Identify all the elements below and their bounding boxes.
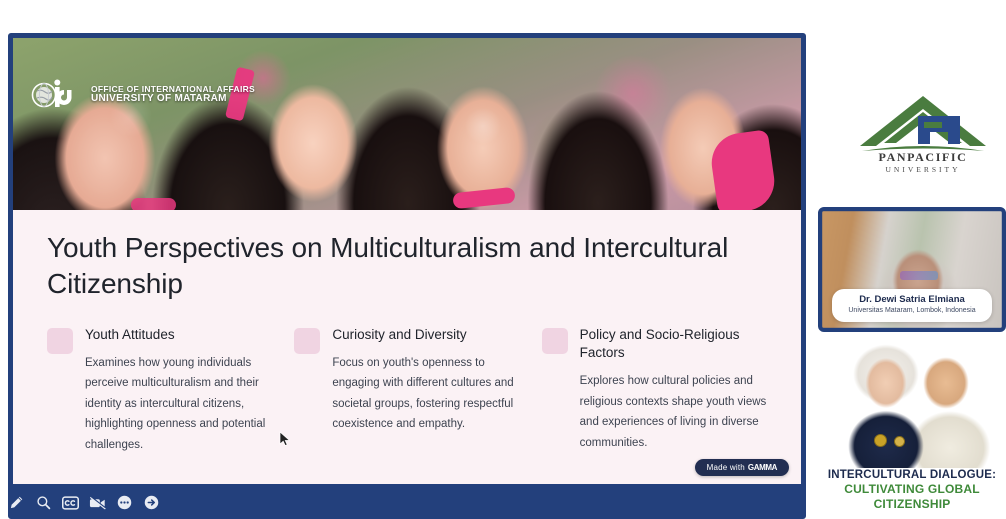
card-swatch-icon xyxy=(294,328,320,354)
camera-off-icon[interactable] xyxy=(89,494,106,511)
card-title: Youth Attitudes xyxy=(85,326,272,344)
card-body: Youth Attitudes Examines how young indiv… xyxy=(85,326,272,456)
oia-logo-line2: UNIVERSITY OF MATARAM xyxy=(91,94,255,105)
meeting-toolbar[interactable] xyxy=(8,494,160,511)
magnifier-icon[interactable] xyxy=(35,494,52,511)
slide-card: Policy and Socio-Religious Factors Explo… xyxy=(542,326,767,456)
panpacific-mark-icon xyxy=(852,92,994,154)
closed-caption-icon[interactable] xyxy=(62,494,79,511)
promo-title-line2: CULTIVATING GLOBAL CITIZENSHIP xyxy=(818,482,1006,511)
promo-title: INTERCULTURAL DIALOGUE: CULTIVATING GLOB… xyxy=(818,468,1006,511)
panpacific-name: PANPACIFIC xyxy=(852,150,994,165)
presentation-slide-frame[interactable]: OFFICE OF INTERNATIONAL AFFAIRS UNIVERSI… xyxy=(8,33,806,519)
card-swatch-icon xyxy=(542,328,568,354)
oia-logo: OFFICE OF INTERNATIONAL AFFAIRS UNIVERSI… xyxy=(31,76,255,114)
card-body: Curiosity and Diversity Focus on youth's… xyxy=(332,326,519,456)
pen-icon[interactable] xyxy=(8,494,25,511)
card-text: Examines how young individuals perceive … xyxy=(85,353,272,455)
arrow-right-circle-icon[interactable] xyxy=(143,494,160,511)
slide-card: Curiosity and Diversity Focus on youth's… xyxy=(294,326,519,456)
screen: OFFICE OF INTERNATIONAL AFFAIRS UNIVERSI… xyxy=(0,0,1006,519)
speaker-affiliation: Universitas Mataram, Lombok, Indonesia xyxy=(838,307,986,316)
globe-icon xyxy=(31,76,85,114)
eyeglasses-icon xyxy=(900,271,938,280)
uniform-badge-icon xyxy=(874,434,887,447)
slide-card: Youth Attitudes Examines how young indiv… xyxy=(47,326,272,456)
event-promo-panel: INTERCULTURAL DIALOGUE: CULTIVATING GLOB… xyxy=(818,338,1006,519)
panpacific-subtitle: UNIVERSITY xyxy=(852,165,994,174)
promo-speakers-photo xyxy=(818,338,1006,468)
card-body: Policy and Socio-Religious Factors Explo… xyxy=(580,326,767,456)
slide-title: Youth Perspectives on Multiculturalism a… xyxy=(47,230,747,302)
hero-photo-highlights xyxy=(13,38,801,210)
slide-hero-image: OFFICE OF INTERNATIONAL AFFAIRS UNIVERSI… xyxy=(13,38,801,210)
pink-accent-4 xyxy=(131,198,176,210)
speaker-video-tile[interactable]: Dr. Dewi Satria Elmiana Universitas Mata… xyxy=(818,207,1006,332)
gamma-brand: GAMMA xyxy=(748,463,777,472)
card-swatch-icon xyxy=(47,328,73,354)
made-with-gamma-badge[interactable]: Made with GAMMA xyxy=(695,459,789,476)
oia-logo-text: OFFICE OF INTERNATIONAL AFFAIRS UNIVERSI… xyxy=(91,85,255,105)
made-with-prefix: Made with xyxy=(707,463,745,472)
card-text: Focus on youth's openness to engaging wi… xyxy=(332,353,519,435)
slide-body: Youth Perspectives on Multiculturalism a… xyxy=(13,210,801,484)
panpacific-university-logo: PANPACIFIC UNIVERSITY xyxy=(852,92,994,187)
uniform-badge-icon-2 xyxy=(894,436,905,447)
speaker-name-card: Dr. Dewi Satria Elmiana Universitas Mata… xyxy=(832,289,992,322)
card-title: Policy and Socio-Religious Factors xyxy=(580,326,767,362)
slide-cards: Youth Attitudes Examines how young indiv… xyxy=(47,326,767,456)
card-text: Explores how cultural policies and relig… xyxy=(580,371,767,453)
slide-content: OFFICE OF INTERNATIONAL AFFAIRS UNIVERSI… xyxy=(13,38,801,484)
speaker-name: Dr. Dewi Satria Elmiana xyxy=(838,294,986,306)
card-title: Curiosity and Diversity xyxy=(332,326,519,344)
promo-title-line1: INTERCULTURAL DIALOGUE: xyxy=(828,469,996,481)
more-options-icon[interactable] xyxy=(116,494,133,511)
